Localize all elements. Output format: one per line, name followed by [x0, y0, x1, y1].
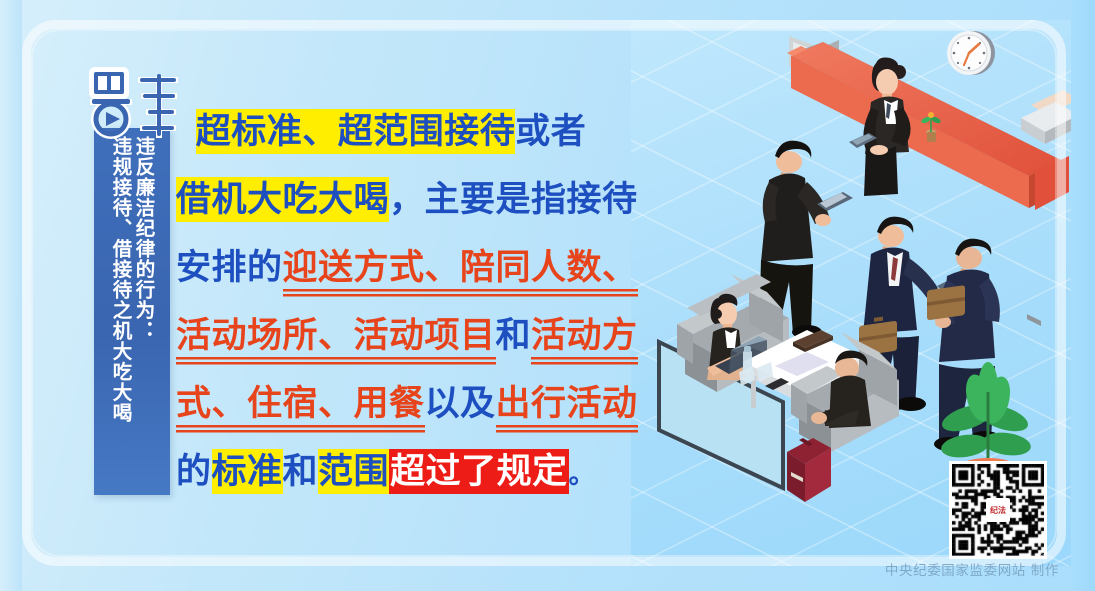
body-line-3: 安排的迎送方式、陪同人数、 [176, 234, 606, 302]
text-segment: 超过了规定 [389, 449, 569, 494]
text-segment: 出行活动 [496, 383, 638, 433]
body-line-2: 借机大吃大喝，主要是指接待 [176, 166, 606, 234]
text-segment: 的 [176, 451, 212, 492]
red-briefcase [787, 438, 831, 502]
body-text-block: 超标准、超范围接待或者 借机大吃大喝，主要是指接待 安排的迎送方式、陪同人数、 … [176, 98, 606, 506]
right-edge-gradient [1071, 0, 1095, 591]
text-segment: 范围 [318, 449, 389, 494]
text-segment: 和 [496, 315, 532, 356]
text-segment: 以及 [425, 383, 496, 424]
qr-code[interactable]: 纪法 [949, 461, 1047, 559]
body-line-6: 的标准和范围超过了规定。 [176, 438, 606, 506]
body-line-1: 超标准、超范围接待或者 [176, 98, 606, 166]
poster-canvas: 违反廉洁纪律的行为： 违规接待、借接待之机大吃大喝 超标准、超范围接待或者 借机… [0, 0, 1095, 591]
vertical-title-bar: 违反廉洁纪律的行为： 违规接待、借接待之机大吃大喝 [94, 128, 170, 495]
text-segment: ，主要是指接待 [389, 179, 638, 220]
body-line-5: 式、住宿、用餐以及出行活动 [176, 370, 606, 438]
jifa-kepu-logo [86, 66, 186, 148]
left-edge-gradient [0, 0, 22, 591]
text-segment: 和 [283, 451, 319, 492]
printer-icon [1021, 90, 1071, 326]
qr-center-logo: 纪法 [986, 498, 1010, 522]
wall-clock-icon [947, 31, 995, 75]
text-segment: 式、住宿、用餐 [176, 383, 425, 433]
text-segment: 迎送方式、陪同人数、 [283, 247, 638, 297]
sidebar-line-right: 违反廉洁纪律的行为： [133, 136, 154, 495]
credit-text: 中央纪委国家监委网站 制作 [885, 559, 1059, 579]
text-segment: 超标准、超范围接待 [196, 109, 516, 154]
text-segment: 。 [569, 460, 596, 490]
text-segment: 活动场所、活动项目 [176, 315, 496, 365]
text-segment: 安排的 [176, 247, 283, 288]
text-segment: 活动方 [531, 315, 638, 365]
qr-center-label: 纪法 [990, 506, 1006, 514]
body-line-4: 活动场所、活动项目和活动方 [176, 302, 606, 370]
sidebar-line-left: 违规接待、借接待之机大吃大喝 [110, 136, 131, 495]
text-segment: 借机大吃大喝 [176, 177, 389, 222]
text-segment: 标准 [212, 449, 283, 494]
text-segment: 或者 [515, 111, 586, 152]
